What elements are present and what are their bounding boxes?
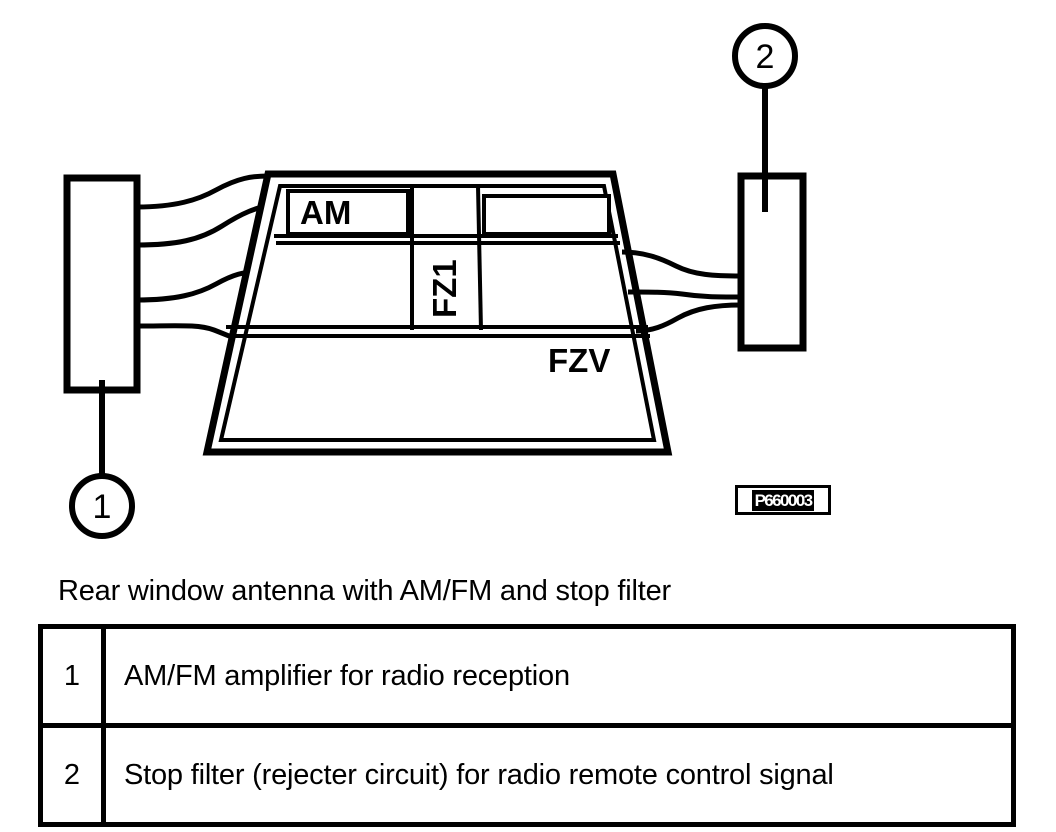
am-label: AM (300, 194, 351, 231)
fz1-label: FZ1 (426, 259, 463, 318)
legend-table: 1 AM/FM amplifier for radio reception 2 … (38, 624, 1016, 827)
amplifier-wire-1 (137, 176, 268, 207)
reference-code-text: P660003 (752, 490, 815, 511)
am-fm-amplifier-box[interactable] (67, 178, 137, 390)
figure-caption: Rear window antenna with AM/FM and stop … (58, 575, 671, 608)
amplifier-wire-2 (137, 205, 270, 245)
stop-filter-wire-1 (622, 252, 741, 276)
callout-2-label: 2 (756, 38, 775, 76)
table-row: 1 AM/FM amplifier for radio reception (41, 627, 1014, 726)
antenna-diagram: 1 AM FZ1 FZV (0, 0, 1056, 560)
stop-filter-wire-3 (636, 305, 741, 331)
stop-filter-wire-2 (628, 292, 741, 297)
legend-item-description: AM/FM amplifier for radio reception (104, 627, 1014, 726)
table-row: 2 Stop filter (rejecter circuit) for rad… (41, 726, 1014, 825)
legend-item-number: 1 (41, 627, 104, 726)
upper-right-field-rect (484, 196, 609, 234)
figure-page: 1 AM FZ1 FZV (0, 0, 1056, 832)
legend-item-description: Stop filter (rejecter circuit) for radio… (104, 726, 1014, 825)
stop-filter-box[interactable] (741, 176, 803, 348)
reference-code-plate: P660003 (735, 485, 831, 515)
callout-1-label: 1 (93, 488, 112, 526)
fzv-label: FZV (548, 342, 610, 379)
legend-item-number: 2 (41, 726, 104, 825)
